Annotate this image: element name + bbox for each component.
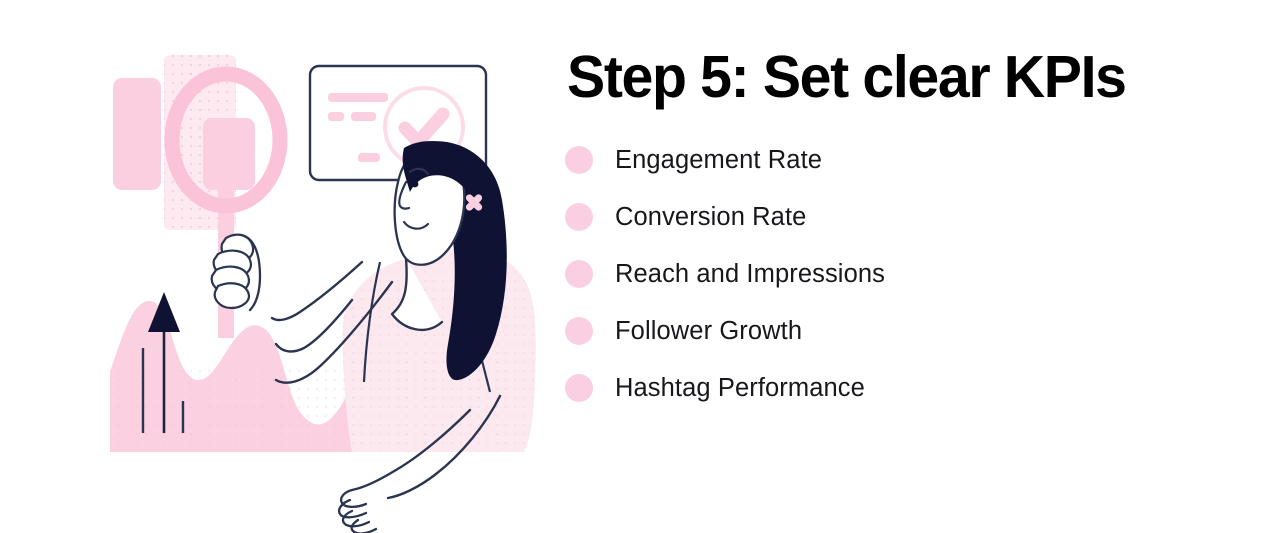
card-line-short-c bbox=[358, 153, 380, 162]
bullet-dot-icon bbox=[565, 203, 593, 231]
eye bbox=[412, 181, 419, 188]
card-line-short-a bbox=[328, 112, 344, 121]
list-item: Follower Growth bbox=[565, 302, 1265, 359]
kpi-label: Hashtag Performance bbox=[615, 373, 865, 403]
kpi-label: Conversion Rate bbox=[615, 202, 806, 232]
page-title: Step 5: Set clear KPIs bbox=[567, 42, 1126, 112]
bullet-dot-icon bbox=[565, 374, 593, 402]
slide-root: Step 5: Set clear KPIs Engagement Rate C… bbox=[0, 0, 1280, 533]
kpi-label: Engagement Rate bbox=[615, 145, 822, 175]
bullet-dot-icon bbox=[565, 146, 593, 174]
list-item: Hashtag Performance bbox=[565, 359, 1265, 416]
resting-hand bbox=[339, 490, 376, 533]
kpi-label: Follower Growth bbox=[615, 316, 802, 346]
bar-chart-bar-right bbox=[203, 118, 255, 190]
card-line-short-b bbox=[351, 112, 376, 121]
illustration bbox=[0, 0, 560, 533]
list-item: Conversion Rate bbox=[565, 188, 1265, 245]
list-item: Reach and Impressions bbox=[565, 245, 1265, 302]
list-item: Engagement Rate bbox=[565, 131, 1265, 188]
bullet-dot-icon bbox=[565, 317, 593, 345]
bullet-dot-icon bbox=[565, 260, 593, 288]
kpi-label: Reach and Impressions bbox=[615, 259, 885, 289]
content-column: Step 5: Set clear KPIs Engagement Rate C… bbox=[565, 0, 1280, 533]
card-line-long bbox=[328, 93, 388, 102]
bar-chart-bar-left bbox=[113, 78, 161, 190]
kpi-list: Engagement Rate Conversion Rate Reach an… bbox=[565, 131, 1265, 416]
